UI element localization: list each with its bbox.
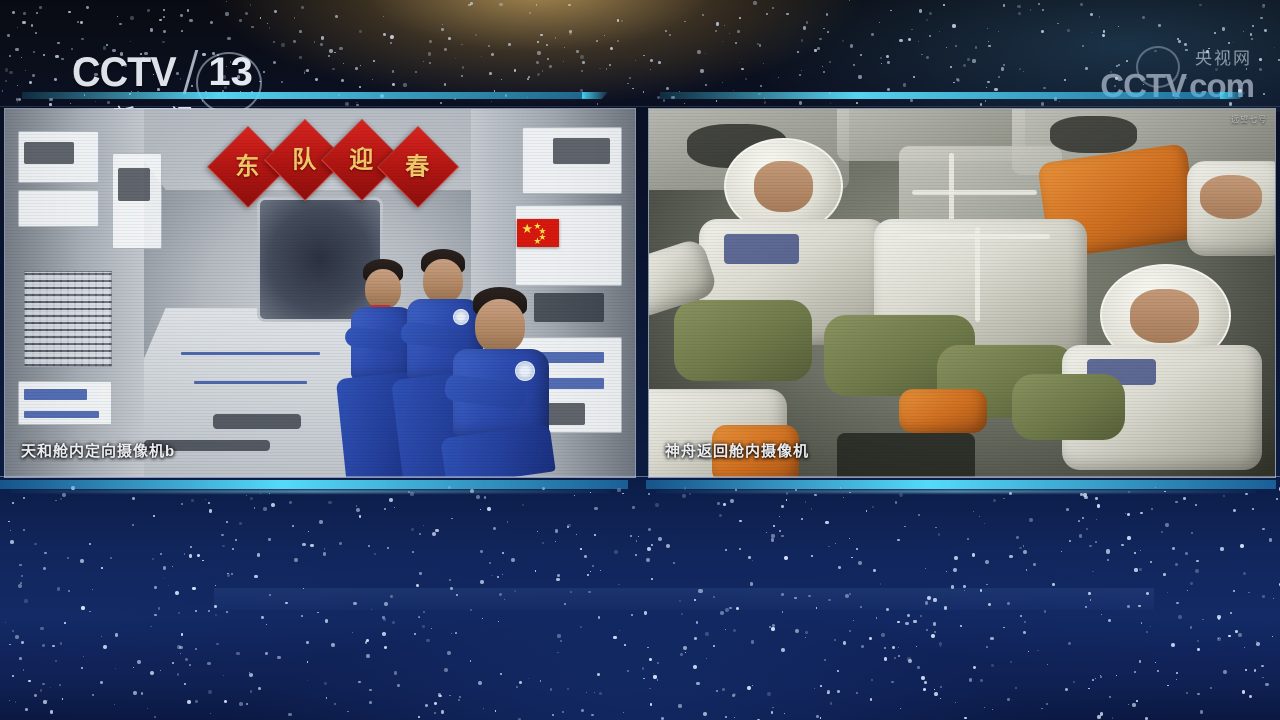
tianhe-interior: 东 队 迎 春 ★ ★ ★ ★ ★ [5,109,635,477]
astronaut-figure [443,287,583,477]
shenzhou-capsule-interior [649,109,1275,477]
watermark-com-text: com [1189,69,1254,102]
cctv-com-watermark: CCTV com 央视网 [1100,46,1254,102]
equipment-grid [24,271,112,367]
watermark-cn-text: 央视网 [1195,44,1252,69]
shenzhou-video-feed: 远望七号 [649,109,1275,477]
panel-top-hairline [0,106,1280,107]
logo-cctv-text: CCTV [72,51,176,93]
video-panel-group: 东 队 迎 春 ★ ★ ★ ★ ★ [0,108,1280,478]
couplet-char: 迎 [333,132,389,190]
couplet-char: 东 [219,139,275,197]
panel-caption-right: 神舟返回舱内摄像机 [665,440,809,461]
news-banner: 新闻联播 XINWEN LIANBO 神舟十八号载人飞船成功发射 两个乘组航天员… [0,586,1280,664]
broadcast-screen: CCTV 13 新 闻 CCTV com 央视网 [0,0,1280,720]
tianhe-video-feed: 东 队 迎 春 ★ ★ ★ ★ ★ [5,109,635,477]
panel-caption-left: 天和舱内定向摄像机b [21,440,175,461]
video-panel-shenzhou[interactable]: 远望七号 神舟返回舱内摄像机 [648,108,1276,478]
tracking-ship-tag: 远望七号 [1231,115,1267,125]
watermark-ring-icon [1136,46,1180,88]
panel-bottom-hairline [0,476,1280,477]
couplet-char: 春 [390,139,446,197]
china-flag-icon: ★ ★ ★ ★ ★ [517,219,559,247]
video-panel-tianhe[interactable]: 东 队 迎 春 ★ ★ ★ ★ ★ [4,108,636,478]
